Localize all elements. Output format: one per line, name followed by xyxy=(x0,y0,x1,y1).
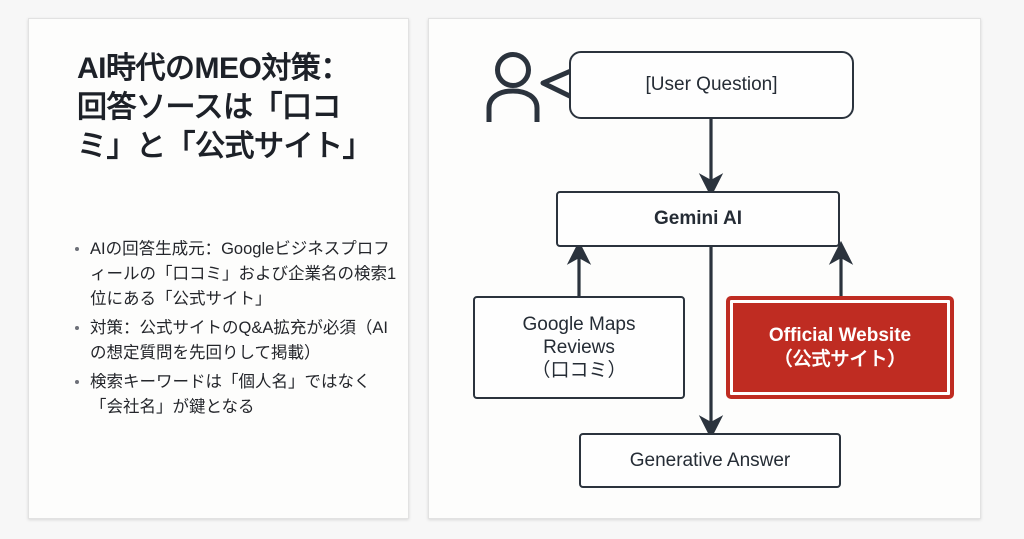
node-generative-answer: Generative Answer xyxy=(579,433,841,488)
node-gemini-ai-label: Gemini AI xyxy=(654,207,742,230)
node-generative-answer-label: Generative Answer xyxy=(630,449,791,472)
list-item: AIの回答生成元：Googleビジネスプロフィールの「口コミ」および企業名の検索… xyxy=(73,237,403,312)
page-title: AI時代のMEO対策： 回答ソースは「口コ ミ」と「公式サイト」 xyxy=(77,49,397,166)
title-line-2: 回答ソースは「口コ xyxy=(77,88,397,127)
node-google-maps-reviews: Google Maps Reviews （口コミ） xyxy=(473,296,685,399)
left-text-card: AI時代のMEO対策： 回答ソースは「口コ ミ」と「公式サイト」 AIの回答生成… xyxy=(28,18,409,519)
node-reviews-label-line3: （口コミ） xyxy=(522,359,635,382)
node-official-label-line1: Official Website xyxy=(769,324,911,347)
slide-canvas: AI時代のMEO対策： 回答ソースは「口コ ミ」と「公式サイト」 AIの回答生成… xyxy=(0,0,1024,539)
list-item: 検索キーワードは「個人名」ではなく「会社名」が鍵となる xyxy=(73,370,403,420)
user-question-bubble: [User Question] xyxy=(569,51,854,119)
title-line-1: AI時代のMEO対策： xyxy=(77,49,397,88)
title-line-3: ミ」と「公式サイト」 xyxy=(77,127,397,166)
node-reviews-label-line2: Reviews xyxy=(522,336,635,359)
right-diagram-card: [User Question] Gemini AI Google Maps Re… xyxy=(428,18,981,519)
person-icon xyxy=(484,50,546,122)
flow-diagram: [User Question] Gemini AI Google Maps Re… xyxy=(429,19,982,520)
node-official-label-line2: （公式サイト） xyxy=(769,348,911,371)
node-reviews-label-line1: Google Maps xyxy=(522,313,635,336)
list-item: 対策：公式サイトのQ&A拡充が必須（AIの想定質問を先回りして掲載） xyxy=(73,316,403,366)
user-question-label: [User Question] xyxy=(646,73,778,96)
bullet-list: AIの回答生成元：Googleビジネスプロフィールの「口コミ」および企業名の検索… xyxy=(73,237,403,425)
node-official-website: Official Website （公式サイト） xyxy=(726,296,954,399)
node-gemini-ai: Gemini AI xyxy=(556,191,840,247)
